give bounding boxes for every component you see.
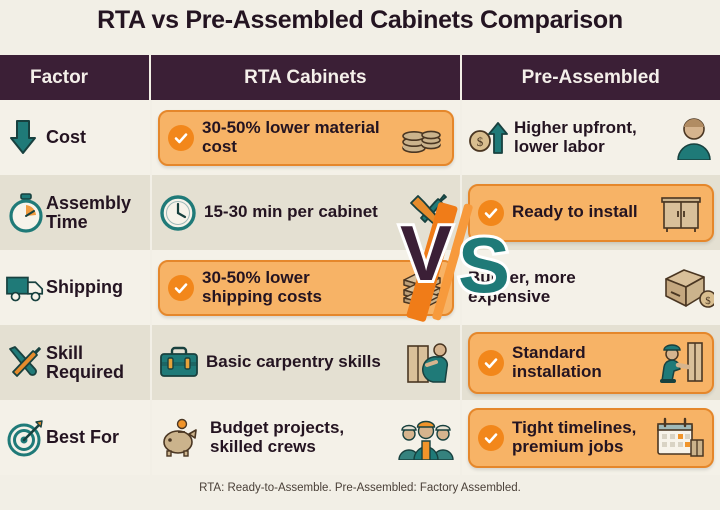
pre-assembled-cell: Tight timelines, premium jobs <box>460 400 720 475</box>
factor-label: Skill Required <box>46 344 150 382</box>
factor-label: Assembly Time <box>46 194 150 232</box>
check-icon <box>168 275 194 301</box>
piggy-bank-icon <box>158 418 204 458</box>
page-title: RTA vs Pre-Assembled Cabinets Comparison <box>0 6 720 35</box>
highlight-pill: Standard installation <box>468 332 714 394</box>
rta-cell: 30-50% lower shipping costs <box>150 250 460 325</box>
factor-cell: Assembly Time <box>0 175 150 250</box>
infographic-poster: RTA vs Pre-Assembled Cabinets Comparison… <box>0 0 720 510</box>
highlight-pill: Tight timelines, premium jobs <box>468 408 714 468</box>
footer-note: RTA: Ready-to-Assemble. Pre-Assembled: F… <box>0 482 720 494</box>
factor-cell: Skill Required <box>0 325 150 400</box>
rta-cell: 15-30 min per cabinet <box>150 175 460 250</box>
cabinet-icon <box>658 192 704 234</box>
stopwatch-icon <box>6 193 46 233</box>
factor-cell: Best For <box>0 400 150 475</box>
rta-cell: 30-50% lower material cost <box>150 100 460 175</box>
pre-assembled-cell: Bulkier, more expensive $ <box>460 250 720 325</box>
header-cell-factor: Factor <box>0 55 149 100</box>
rta-cell: Budget projects, skilled crews <box>150 400 460 475</box>
wrench-screwdriver-icon <box>408 192 454 234</box>
table-row: Shipping 30-50% lower shipping costs <box>0 250 720 325</box>
factor-cell: Cost <box>0 100 150 175</box>
rta-text: Basic carpentry skills <box>206 353 381 372</box>
dollar-up-arrow-icon: $ <box>468 119 508 157</box>
pre-assembled-cell: Standard installation <box>460 325 720 400</box>
pre-assembled-text: Higher upfront, lower labor <box>514 119 662 156</box>
svg-text:$: $ <box>705 295 711 307</box>
worker-cabinet-icon <box>406 340 454 386</box>
clock-icon <box>158 193 198 233</box>
comparison-table: Factor RTA Cabinets Pre-Assembled Cost <box>0 55 720 475</box>
pre-assembled-text: Standard installation <box>512 344 640 381</box>
factor-label: Best For <box>46 428 119 447</box>
pre-assembled-text: Ready to install <box>512 203 638 222</box>
pre-assembled-cell: $ Higher upfront, lower labor <box>460 100 720 175</box>
highlight-pill: 30-50% lower material cost <box>158 110 454 166</box>
rta-text: 30-50% lower material cost <box>202 119 384 156</box>
rta-text: 30-50% lower shipping costs <box>202 269 384 306</box>
down-arrow-icon <box>6 118 46 158</box>
header-cell-pre-assembled: Pre-Assembled <box>460 55 720 100</box>
table-row: Cost 30-50% lower material cost <box>0 100 720 175</box>
rta-text: 15-30 min per cabinet <box>204 203 378 222</box>
factor-label: Cost <box>46 128 86 147</box>
check-icon <box>478 425 504 451</box>
factor-cell: Shipping <box>0 250 150 325</box>
rta-text: Budget projects, skilled crews <box>210 419 386 456</box>
check-icon <box>168 125 194 151</box>
table-header-row: Factor RTA Cabinets Pre-Assembled <box>0 55 720 100</box>
screwdriver-wrench-icon <box>6 343 46 383</box>
crew-group-icon <box>398 416 454 460</box>
rta-cell: Basic carpentry skills <box>150 325 460 400</box>
table-row: Best For Budge <box>0 400 720 475</box>
delivery-truck-icon <box>6 271 46 305</box>
installer-icon <box>656 340 704 386</box>
toolbox-icon <box>158 345 200 381</box>
pre-assembled-text: Bulkier, more expensive <box>468 269 650 306</box>
pre-assembled-cell: Ready to install <box>460 175 720 250</box>
table-row: Assembly Time 15-30 min per cabinet <box>0 175 720 250</box>
person-icon <box>674 116 714 160</box>
header-cell-rta: RTA Cabinets <box>149 55 459 100</box>
svg-text:$: $ <box>477 134 484 149</box>
flat-pack-boxes-icon <box>400 268 444 308</box>
table-row: Skill Required Basic carpentry skills <box>0 325 720 400</box>
calendar-icon <box>654 416 704 460</box>
check-icon <box>478 350 504 376</box>
coins-stack-icon <box>400 118 444 158</box>
check-icon <box>478 200 504 226</box>
highlight-pill: Ready to install <box>468 184 714 242</box>
cardboard-box-icon: $ <box>662 266 714 310</box>
pre-assembled-text: Tight timelines, premium jobs <box>512 419 638 456</box>
factor-label: Shipping <box>46 278 123 297</box>
highlight-pill: 30-50% lower shipping costs <box>158 260 454 316</box>
target-arrow-icon <box>6 418 46 458</box>
